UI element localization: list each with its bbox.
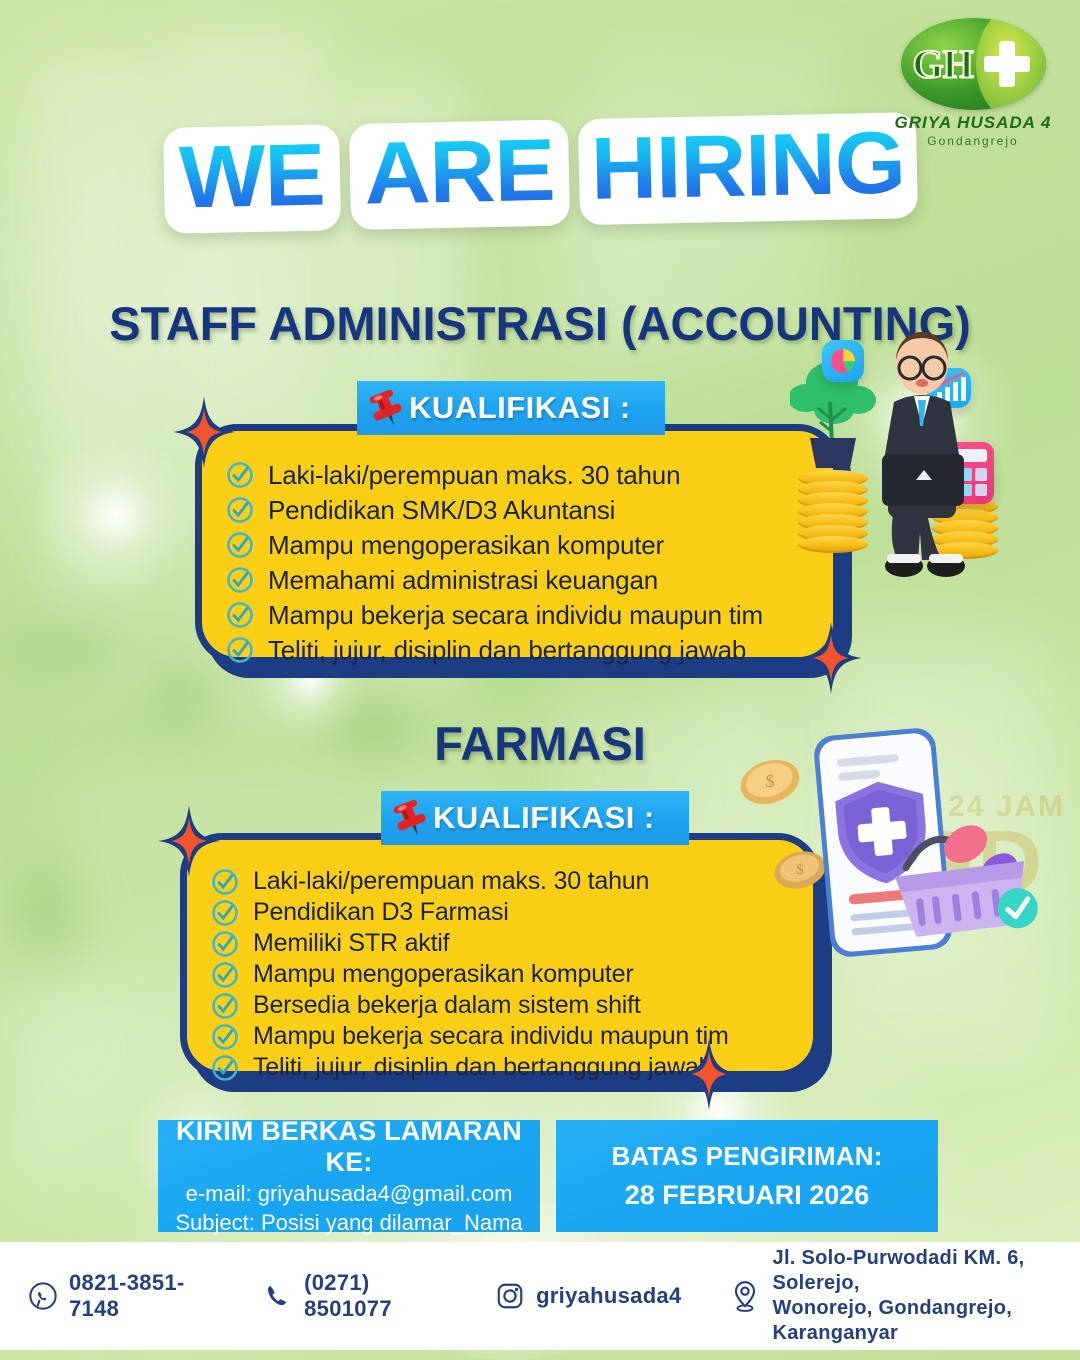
- deadline-info-box: BATAS PENGIRIMAN: 28 FEBRUARI 2026: [556, 1120, 938, 1232]
- logo-initials: GH: [913, 41, 973, 88]
- accounting-illustration: [790, 330, 1070, 600]
- contact-phone[interactable]: (0271) 8501077: [263, 1270, 433, 1322]
- list-item: Mampu mengoperasikan komputer: [226, 527, 803, 562]
- sparkle-decoration: [30, 430, 200, 600]
- title-word: WE: [163, 124, 341, 233]
- list-item-label: Laki-laki/perempuan maks. 30 tahun: [253, 869, 649, 894]
- qualification-banner-farmasi: KUALIFIKASI :: [381, 791, 689, 845]
- medical-cross-icon: [984, 41, 1030, 87]
- phone-number: (0271) 8501077: [304, 1270, 433, 1322]
- check-circle-icon: [226, 636, 254, 664]
- svg-text:$: $: [796, 862, 804, 878]
- pushpin-icon: [359, 381, 414, 436]
- check-circle-icon: [211, 992, 239, 1020]
- logo-branch-name: Gondangrejo: [888, 134, 1058, 148]
- title-word: ARE: [348, 119, 569, 229]
- list-item-label: Laki-laki/perempuan maks. 30 tahun: [268, 462, 680, 488]
- list-item: Memiliki STR aktif: [211, 928, 783, 959]
- list-item: Memahami administrasi keuangan: [226, 562, 803, 597]
- list-item-label: Mampu mengoperasikan komputer: [253, 962, 634, 987]
- submit-title: KIRIM BERKAS LAMARAN KE:: [158, 1116, 540, 1178]
- submit-subject: Subject: Posisi yang dilamar_Nama: [158, 1210, 540, 1236]
- deadline-title: BATAS PENGIRIMAN:: [556, 1141, 938, 1172]
- logo-oval-mark: GH: [901, 18, 1046, 110]
- list-item: Mampu bekerja secara individu maupun tim: [211, 1021, 783, 1052]
- check-circle-icon: [211, 930, 239, 958]
- contact-address: Jl. Solo-Purwodadi KM. 6, Solerejo, Wono…: [728, 1246, 1080, 1346]
- contact-instagram[interactable]: griyahusada4: [495, 1281, 681, 1311]
- location-pin-icon: [728, 1279, 762, 1313]
- check-circle-icon: [211, 1023, 239, 1051]
- instagram-handle: griyahusada4: [536, 1283, 681, 1309]
- address-line-2: Wonorejo, Gondangrejo, Karanganyar: [773, 1297, 1013, 1344]
- deadline-date: 28 FEBRUARI 2026: [556, 1180, 938, 1211]
- list-item-label: Pendidikan D3 Farmasi: [253, 900, 509, 925]
- qualification-banner-accounting: KUALIFIKASI :: [357, 381, 665, 435]
- list-item-label: Memiliki STR aktif: [253, 931, 449, 956]
- pushpin-icon: [383, 791, 438, 846]
- list-item-label: Mampu mengoperasikan komputer: [268, 532, 664, 558]
- list-item: Teliti, jujur, disiplin dan bertanggung …: [211, 1052, 783, 1083]
- check-circle-icon: [211, 868, 239, 896]
- phone-icon: [263, 1281, 293, 1311]
- check-circle-icon: [226, 566, 254, 594]
- list-item: Mampu mengoperasikan komputer: [211, 959, 783, 990]
- check-circle-icon: [226, 496, 254, 524]
- qualification-list-farmasi: Laki-laki/perempuan maks. 30 tahun Pendi…: [211, 866, 783, 1083]
- check-circle-icon: [211, 961, 239, 989]
- svg-text:$: $: [766, 771, 775, 791]
- qualification-card-accounting: Laki-laki/perempuan maks. 30 tahun Pendi…: [195, 424, 840, 664]
- whatsapp-icon: [28, 1281, 58, 1311]
- check-circle-icon: [226, 461, 254, 489]
- instagram-icon: [495, 1281, 525, 1311]
- check-circle-icon: [211, 1054, 239, 1082]
- list-item-label: Teliti, jujur, disiplin dan bertanggung …: [253, 1055, 712, 1080]
- list-item-label: Pendidikan SMK/D3 Akuntansi: [268, 497, 615, 523]
- contact-footer: 0821-3851-7148 (0271) 8501077 griyahusad…: [0, 1242, 1080, 1350]
- list-item-label: Mampu bekerja secara individu maupun tim: [268, 602, 763, 628]
- list-item-label: Memahami administrasi keuangan: [268, 567, 658, 593]
- list-item-label: Teliti, jujur, disiplin dan bertanggung …: [268, 637, 746, 663]
- list-item: Mampu bekerja secara individu maupun tim: [226, 597, 803, 632]
- contact-whatsapp[interactable]: 0821-3851-7148: [28, 1270, 203, 1322]
- list-item: Pendidikan SMK/D3 Akuntansi: [226, 492, 803, 527]
- list-item: Pendidikan D3 Farmasi: [211, 897, 783, 928]
- title-word: HIRING: [577, 112, 917, 225]
- list-item-label: Mampu bekerja secara individu maupun tim: [253, 1024, 729, 1049]
- list-item: Teliti, jujur, disiplin dan bertanggung …: [226, 632, 803, 667]
- qualification-list-accounting: Laki-laki/perempuan maks. 30 tahun Pendi…: [226, 457, 803, 667]
- submit-email: e-mail: griyahusada4@gmail.com: [158, 1181, 540, 1207]
- check-circle-icon: [211, 899, 239, 927]
- person-with-laptop-icon: [842, 330, 1002, 580]
- whatsapp-number: 0821-3851-7148: [69, 1270, 203, 1322]
- address-line-1: Jl. Solo-Purwodadi KM. 6, Solerejo,: [773, 1247, 1025, 1294]
- check-circle-icon: [226, 601, 254, 629]
- list-item: Laki-laki/perempuan maks. 30 tahun: [226, 457, 803, 492]
- list-item: Laki-laki/perempuan maks. 30 tahun: [211, 866, 783, 897]
- submit-info-box: KIRIM BERKAS LAMARAN KE: e-mail: griyahu…: [158, 1120, 540, 1232]
- company-logo: GH GRIYA HUSADA 4 Gondangrejo: [888, 18, 1058, 148]
- check-circle-icon: [226, 531, 254, 559]
- list-item: Bersedia bekerja dalam sistem shift: [211, 990, 783, 1021]
- address-text: Jl. Solo-Purwodadi KM. 6, Solerejo, Wono…: [773, 1246, 1080, 1346]
- card-body: Laki-laki/perempuan maks. 30 tahun Pendi…: [180, 833, 820, 1078]
- logo-company-name: GRIYA HUSADA 4: [888, 113, 1058, 133]
- card-body: Laki-laki/perempuan maks. 30 tahun Pendi…: [195, 424, 840, 664]
- list-item-label: Bersedia bekerja dalam sistem shift: [253, 993, 641, 1018]
- qualification-card-farmasi: Laki-laki/perempuan maks. 30 tahun Pendi…: [180, 833, 820, 1078]
- pharmacy-illustration: $ $: [740, 722, 1060, 972]
